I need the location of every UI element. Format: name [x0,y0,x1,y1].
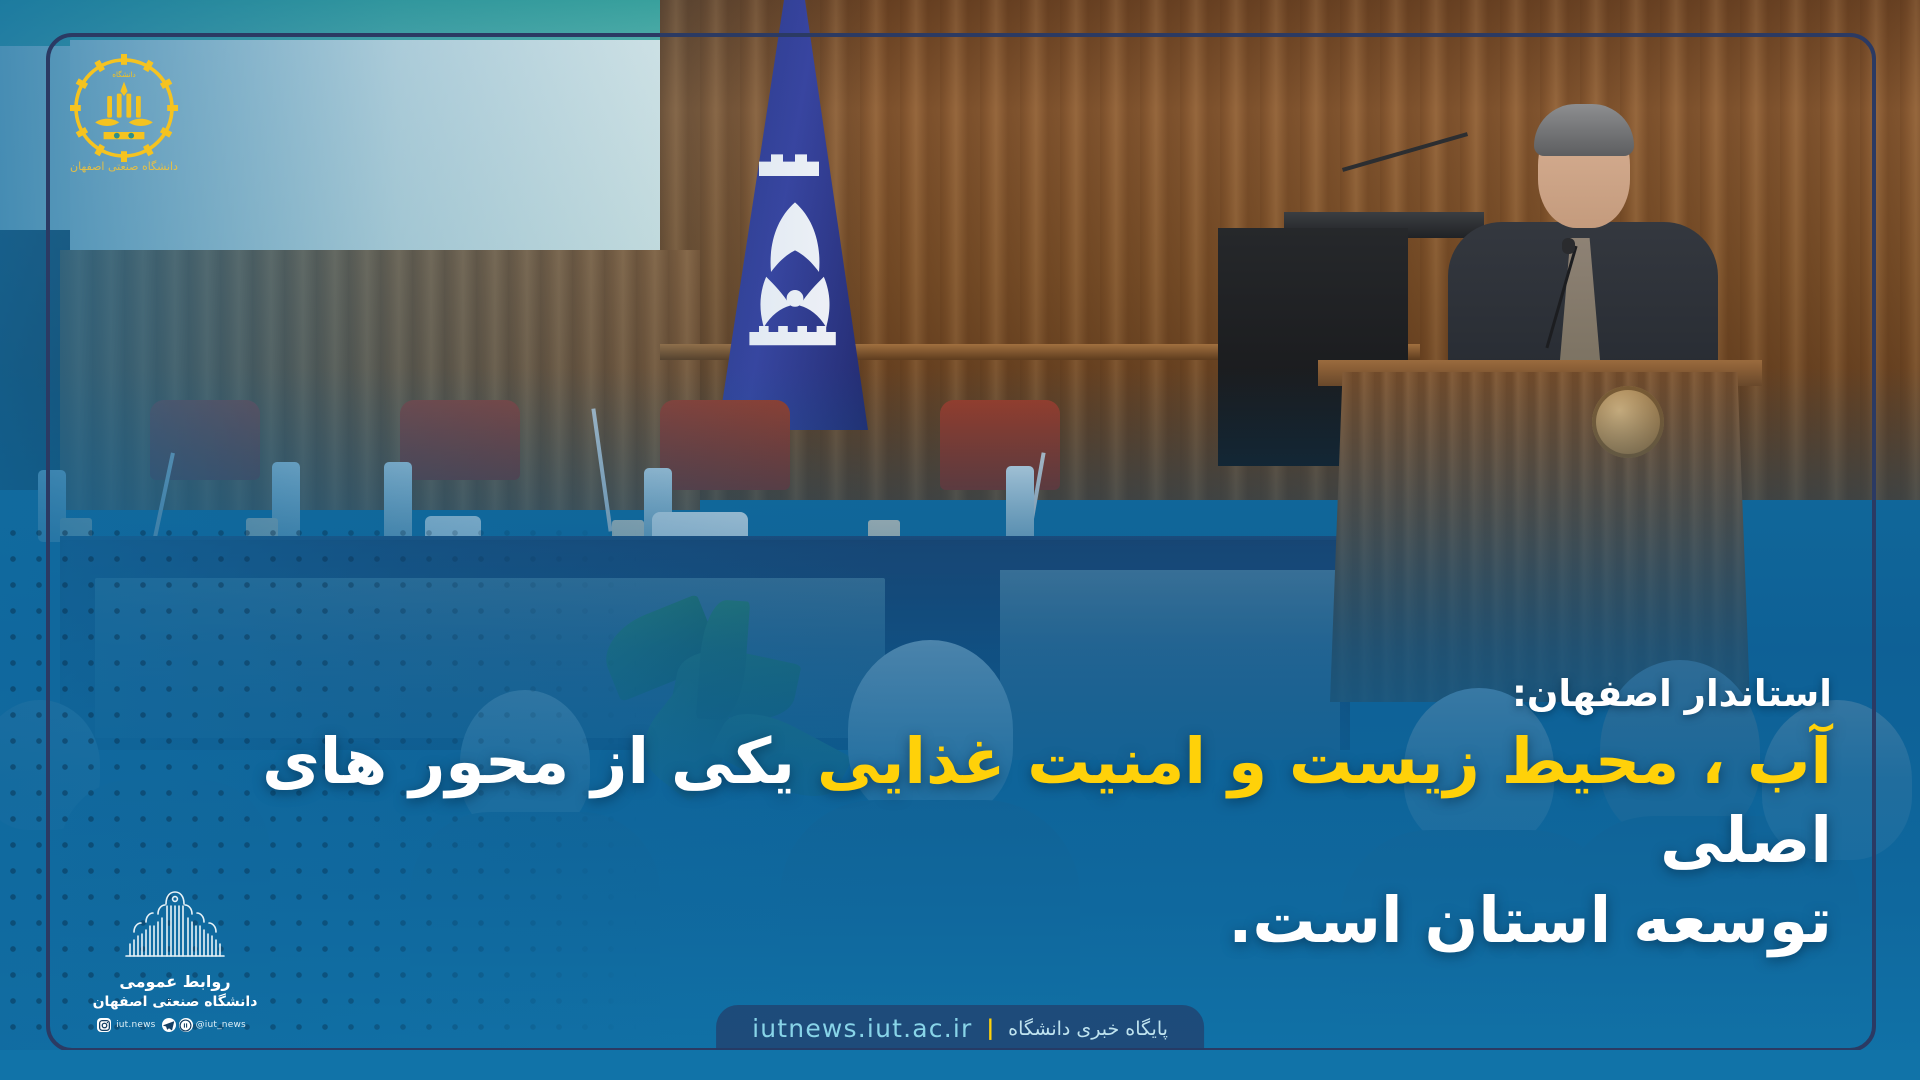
instagram-group[interactable]: iut.news [97,1018,156,1032]
pr-social-row: iut.news @iut_news [60,1018,290,1032]
instagram-icon[interactable] [97,1018,111,1032]
headline-line-2: توسعه استان است. [192,881,1832,960]
telegram-handle: @iut_news [196,1020,246,1030]
telegram-icon[interactable] [162,1018,176,1032]
footer-site-url[interactable]: iutnews.iut.ac.ir [752,1014,972,1043]
pr-logo-line-2: دانشگاه صنعتی اصفهان [60,994,290,1010]
headline-kicker: استاندار اصفهان: [192,673,1832,716]
footer-site-label: پایگاه خبری دانشگاه [1008,1018,1168,1040]
news-banner: دانشگاه دانشگاه صنعتی اصفهان استاندار اص… [0,0,1920,1080]
iut-logo-caption: دانشگاه صنعتی اصفهان [58,160,190,173]
headline-text: آب ، محیط زیست و امنیت غذایی یکی از محور… [192,722,1832,960]
telegram-group[interactable]: @iut_news [162,1018,253,1032]
headline-line-1: آب ، محیط زیست و امنیت غذایی یکی از محور… [192,722,1832,881]
eitaa-icon[interactable] [179,1018,193,1032]
pr-logo-line-1: روابط عمومی [60,972,290,991]
iut-university-emblem: دانشگاه [64,48,184,168]
bottom-bar [0,1050,1920,1080]
instagram-handle: iut.news [116,1020,156,1030]
footer-site-pill[interactable]: پایگاه خبری دانشگاه | iutnews.iut.ac.ir [716,1005,1204,1054]
headline-block: استاندار اصفهان: آب ، محیط زیست و امنیت … [192,673,1832,960]
svg-text:دانشگاه: دانشگاه [112,70,136,79]
headline-line-1-highlight: آب ، محیط زیست و امنیت غذایی [817,725,1832,798]
public-relations-logo: روابط عمومی دانشگاه صنعتی اصفهان iut.new… [60,888,290,1032]
naqsh-e-jahan-skyline-icon [110,888,240,966]
footer-separator: | [987,1018,995,1039]
